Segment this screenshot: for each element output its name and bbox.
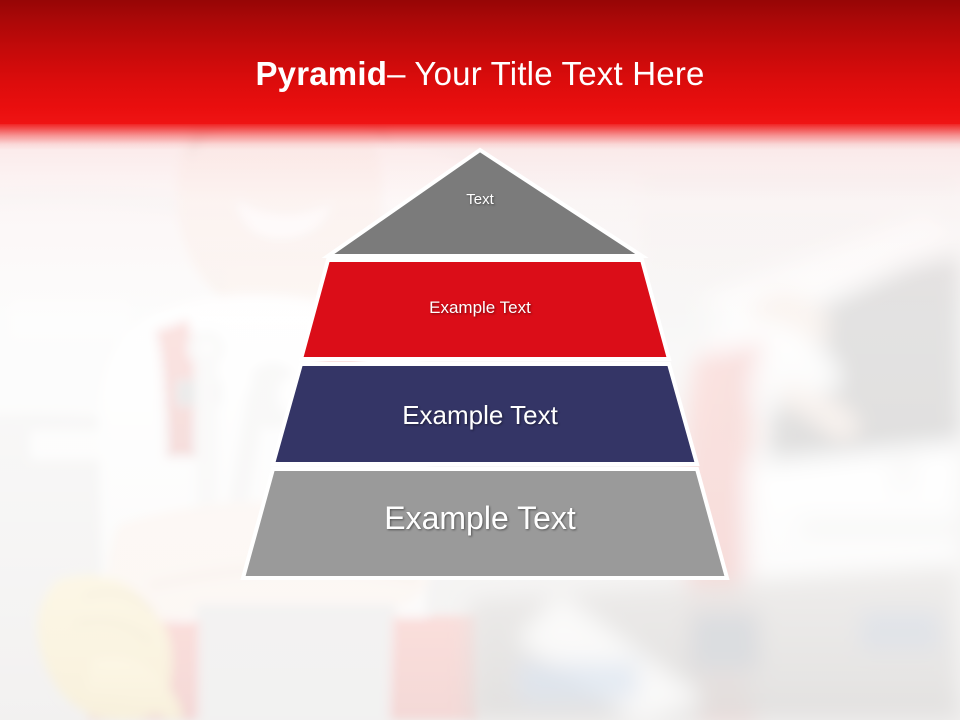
slide-canvas: Pyramid – Your Title Text Here Text Exam… [0,0,960,720]
pyramid-level-1-shape[interactable] [328,150,642,256]
pyramid-level-3-shape[interactable] [273,364,697,464]
pyramid-level-2-shape[interactable] [301,260,669,359]
pyramid-level-4-shape[interactable] [243,469,727,578]
pyramid-diagram [0,0,960,720]
